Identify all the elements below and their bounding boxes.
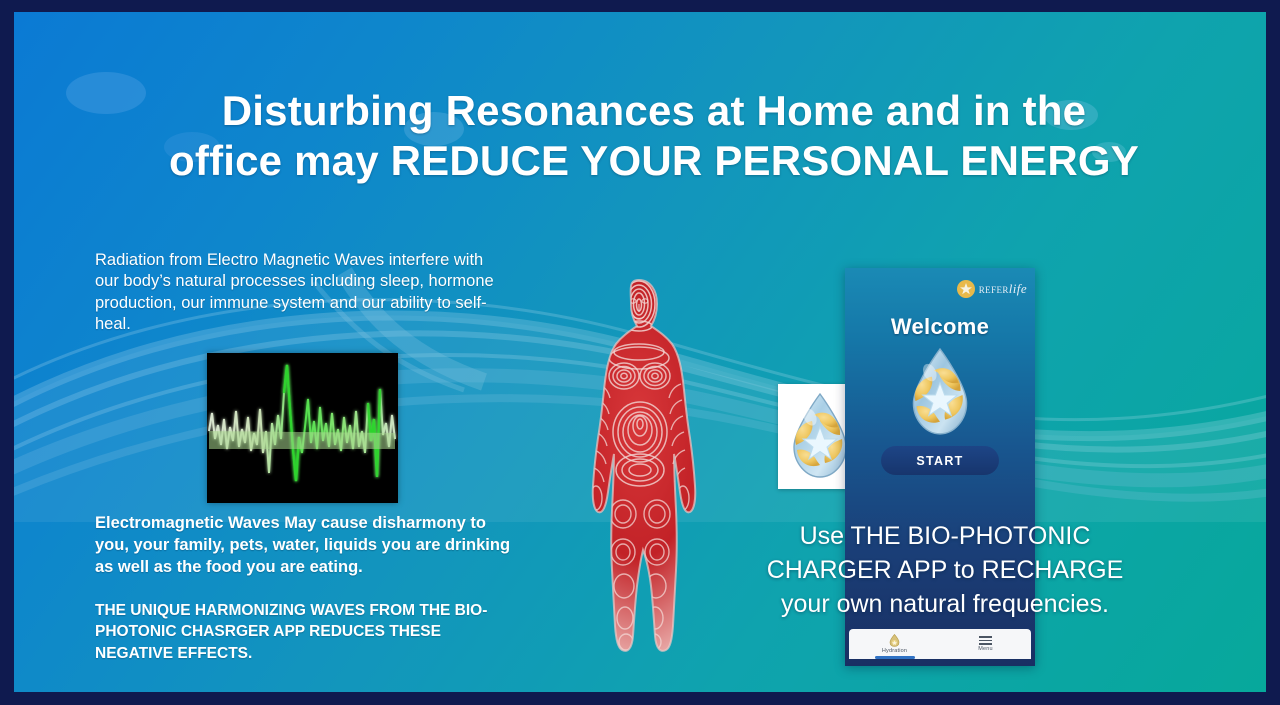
page-title: Disturbing Resonances at Home and in the… (74, 86, 1234, 187)
droplet-icon (898, 346, 982, 440)
nav-item-hydration[interactable]: Hydration (849, 629, 940, 659)
app-droplet-graphic (898, 346, 982, 445)
brand-text: REFERlife (979, 281, 1027, 297)
cta-line-2: CHARGER APP to RECHARGE (714, 554, 1176, 588)
nav-label: Hydration (882, 648, 907, 654)
slide-frame: Disturbing Resonances at Home and in the… (0, 0, 1280, 705)
nav-label: Menu (978, 646, 993, 652)
cta-line-1: Use THE BIO-PHOTONIC (714, 520, 1176, 554)
audio-waveform-image (207, 353, 398, 503)
nav-item-menu[interactable]: Menu (940, 629, 1031, 659)
slide-canvas: Disturbing Resonances at Home and in the… (14, 12, 1266, 692)
bold-paragraph-disharmony: Electromagnetic Waves May cause disharmo… (95, 513, 520, 579)
start-button[interactable]: START (881, 446, 999, 475)
hamburger-icon (979, 636, 992, 644)
droplet-icon (889, 634, 900, 647)
bold-paragraph-harmonizing: THE UNIQUE HARMONIZING WAVES FROM THE BI… (95, 600, 520, 664)
welcome-heading: Welcome (845, 314, 1035, 340)
app-bottom-nav: Hydration Menu (849, 629, 1031, 659)
cta-line-3: your own natural frequencies. (714, 588, 1176, 622)
cta-text: Use THE BIO-PHOTONIC CHARGER APP to RECH… (714, 520, 1176, 621)
app-brand-logo: REFERlife (956, 276, 1027, 302)
pinwheel-star-icon (956, 279, 976, 299)
human-body-thermal-figure (554, 274, 724, 659)
title-line-2: office may REDUCE YOUR PERSONAL ENERGY (74, 136, 1234, 186)
intro-paragraph: Radiation from Electro Magnetic Waves in… (95, 250, 495, 336)
title-line-1: Disturbing Resonances at Home and in the (74, 86, 1234, 136)
